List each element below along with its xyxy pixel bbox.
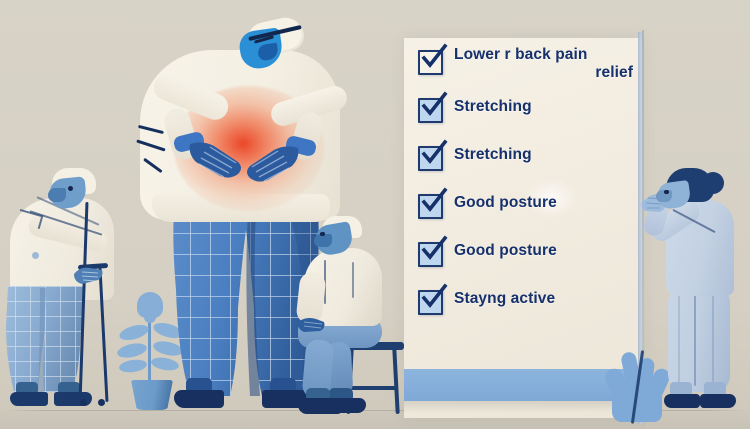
man-hand-right	[242, 144, 300, 186]
checklist-item-label: Good posture	[454, 188, 633, 211]
elder-hand	[72, 264, 104, 286]
cane-foot-left	[80, 399, 87, 406]
checkbox-checked-icon[interactable]	[418, 194, 443, 219]
checklist-item-label: Stayng active	[454, 284, 633, 307]
checklist: Lower r back pain relief Stretching Stre…	[418, 44, 633, 332]
checklist-item-label: Stretching	[454, 140, 633, 163]
checkbox-checked-icon[interactable]	[418, 146, 443, 171]
checkbox-checked-icon[interactable]	[418, 290, 443, 315]
checkbox-checked-icon[interactable]	[418, 50, 443, 75]
checklist-item-label: Good posture	[454, 236, 633, 259]
cane-foot-right	[98, 399, 105, 406]
pointer-hair-bun	[702, 172, 724, 194]
seated-person-on-stool	[296, 216, 408, 424]
illustration-scene: Lower r back pain relief Stretching Stre…	[0, 0, 750, 429]
pointer-eye	[664, 190, 669, 194]
man-shoe-left	[174, 390, 224, 408]
pointer-pant-seam	[694, 294, 696, 386]
checkbox-checked-icon[interactable]	[418, 98, 443, 123]
checklist-item[interactable]: Good posture	[418, 236, 633, 279]
checklist-item-label: Lower r back pain relief	[454, 44, 633, 81]
stool-rail	[348, 386, 398, 390]
elder-pants	[0, 286, 92, 396]
checklist-item[interactable]: Stayng active	[418, 284, 633, 327]
elder-face-shadow	[48, 188, 66, 202]
checklist-item-label: Stretching	[454, 92, 633, 115]
pointer-pant-seam	[712, 292, 714, 382]
checklist-item[interactable]: Stretching	[418, 140, 633, 183]
checkbox-checked-icon[interactable]	[418, 242, 443, 267]
pointer-shoe-left	[664, 394, 700, 408]
elder-button	[32, 252, 39, 259]
elder-shoe-left	[10, 392, 48, 406]
person-pointing-at-board	[648, 168, 744, 420]
sitter-shoe-front	[298, 398, 342, 414]
elder-eye	[68, 186, 73, 191]
stool-leg	[392, 348, 399, 414]
pointer-pant-seam	[678, 296, 680, 384]
pointer-shoe-right	[700, 394, 736, 408]
checklist-item[interactable]: Stretching	[418, 92, 633, 135]
checklist-item[interactable]: Lower r back pain relief	[418, 44, 633, 87]
checklist-item[interactable]: Good posture	[418, 188, 633, 231]
sitter-seam	[352, 262, 354, 298]
man-hand-left	[188, 140, 244, 182]
sitter-hand	[296, 316, 326, 334]
